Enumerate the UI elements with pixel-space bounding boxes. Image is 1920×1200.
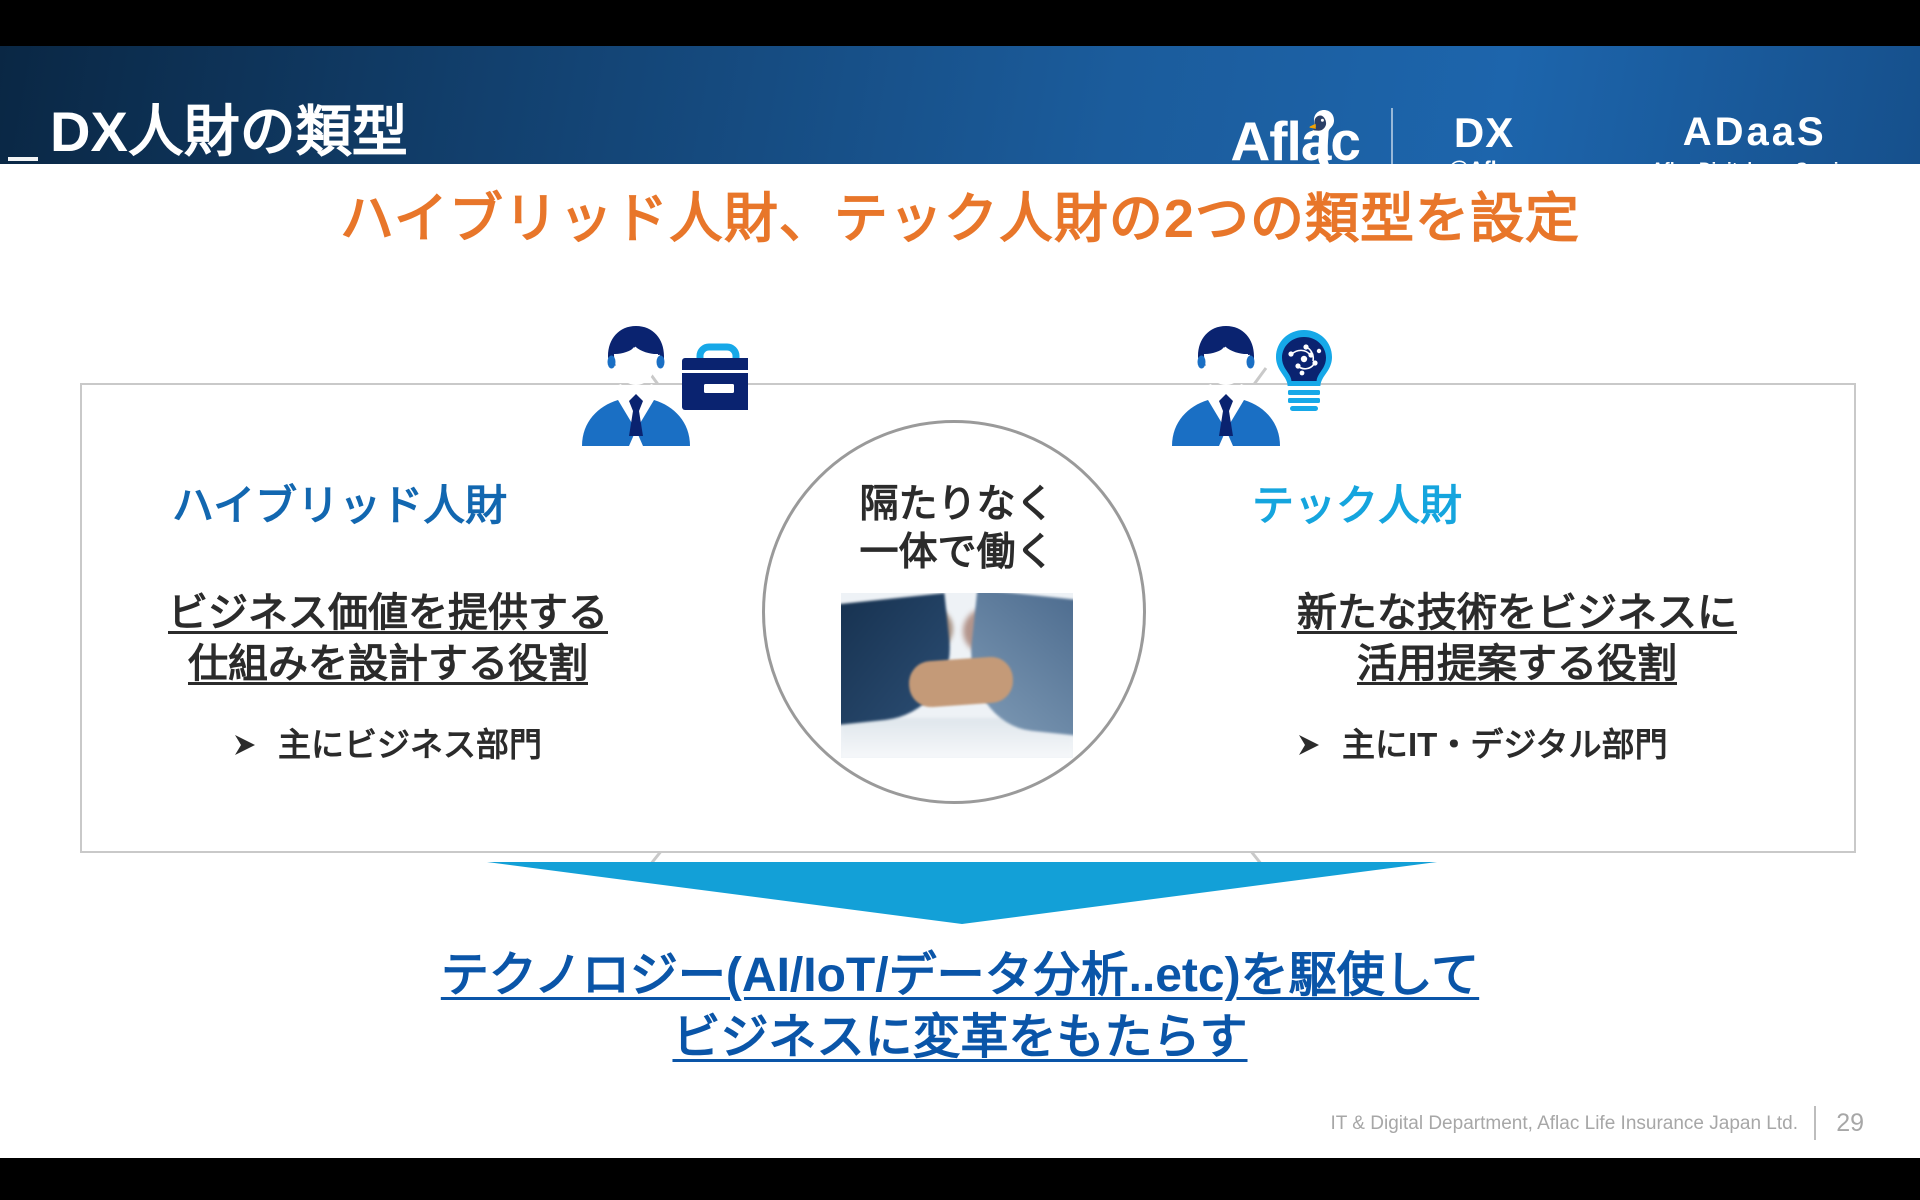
down-chevron-icon — [487, 862, 1437, 924]
column-heading-tech: テック人財 — [1252, 485, 1462, 527]
footer-department: IT & Digital Department, Aflac Life Insu… — [1330, 1114, 1798, 1133]
column-bullet-label-hybrid: 主にビジネス部門 — [278, 728, 542, 761]
column-heading-hybrid: ハイブリッド人財 — [172, 485, 507, 527]
unity-circle-text: 隔たりなく 一体で働く — [765, 481, 1146, 576]
arrow-bullet-icon — [232, 732, 258, 758]
logo-divider — [1391, 108, 1393, 182]
businessperson-briefcase-icon — [578, 318, 748, 448]
arrow-bullet-icon — [1296, 732, 1322, 758]
page-number: 29 — [1832, 1111, 1864, 1136]
letterbox-top — [0, 0, 1920, 46]
footer: IT & Digital Department, Aflac Life Insu… — [1330, 1106, 1864, 1140]
aflac-logo-text: Aflac — [1231, 110, 1361, 172]
businessperson-lightbulb-icon — [1168, 318, 1338, 448]
handshake-photo — [841, 593, 1073, 758]
dx-logo-sub: @Aflac — [1448, 159, 1520, 180]
footer-divider — [1814, 1106, 1816, 1140]
aflac-logo: Aflac — [1231, 114, 1361, 169]
dx-aflac-logo: DX @Aflac — [1448, 112, 1520, 180]
column-description-hybrid: ビジネス価値を提供する 仕組みを設計する役割 — [108, 588, 668, 690]
column-description-tech: 新たな技術をビジネスに 活用提案する役割 — [1232, 588, 1802, 690]
unity-circle: 隔たりなく 一体で働く — [762, 420, 1146, 804]
column-bullet-tech: 主にIT・デジタル部門 — [1296, 728, 1668, 761]
column-bullet-label-tech: 主にIT・デジタル部門 — [1342, 728, 1668, 761]
header-bar: DX人財の類型 Aflac DX @Aflac ADaaS Aflac Digi… — [0, 46, 1920, 164]
page-title: DX人財の類型 — [50, 104, 408, 160]
letterbox-bottom — [0, 1158, 1920, 1200]
duck-icon — [1307, 106, 1341, 168]
dx-logo-main: DX — [1448, 112, 1520, 154]
adaas-logo-sub: Aflac Digital as a Service — [1652, 160, 1858, 177]
adaas-logo-main: ADaaS — [1652, 112, 1858, 152]
bottom-statement: テクノロジー(AI/IoT/データ分析..etc)を駆使して ビジネスに変革をも… — [0, 945, 1920, 1070]
slide-headline: ハイブリッド人財、テック人財の2つの類型を設定 — [0, 192, 1920, 246]
adaas-logo: ADaaS Aflac Digital as a Service — [1652, 112, 1858, 177]
slide-root: DX人財の類型 Aflac DX @Aflac ADaaS Aflac Digi… — [0, 0, 1920, 1200]
dash-icon — [8, 157, 38, 161]
column-bullet-hybrid: 主にビジネス部門 — [232, 728, 542, 761]
